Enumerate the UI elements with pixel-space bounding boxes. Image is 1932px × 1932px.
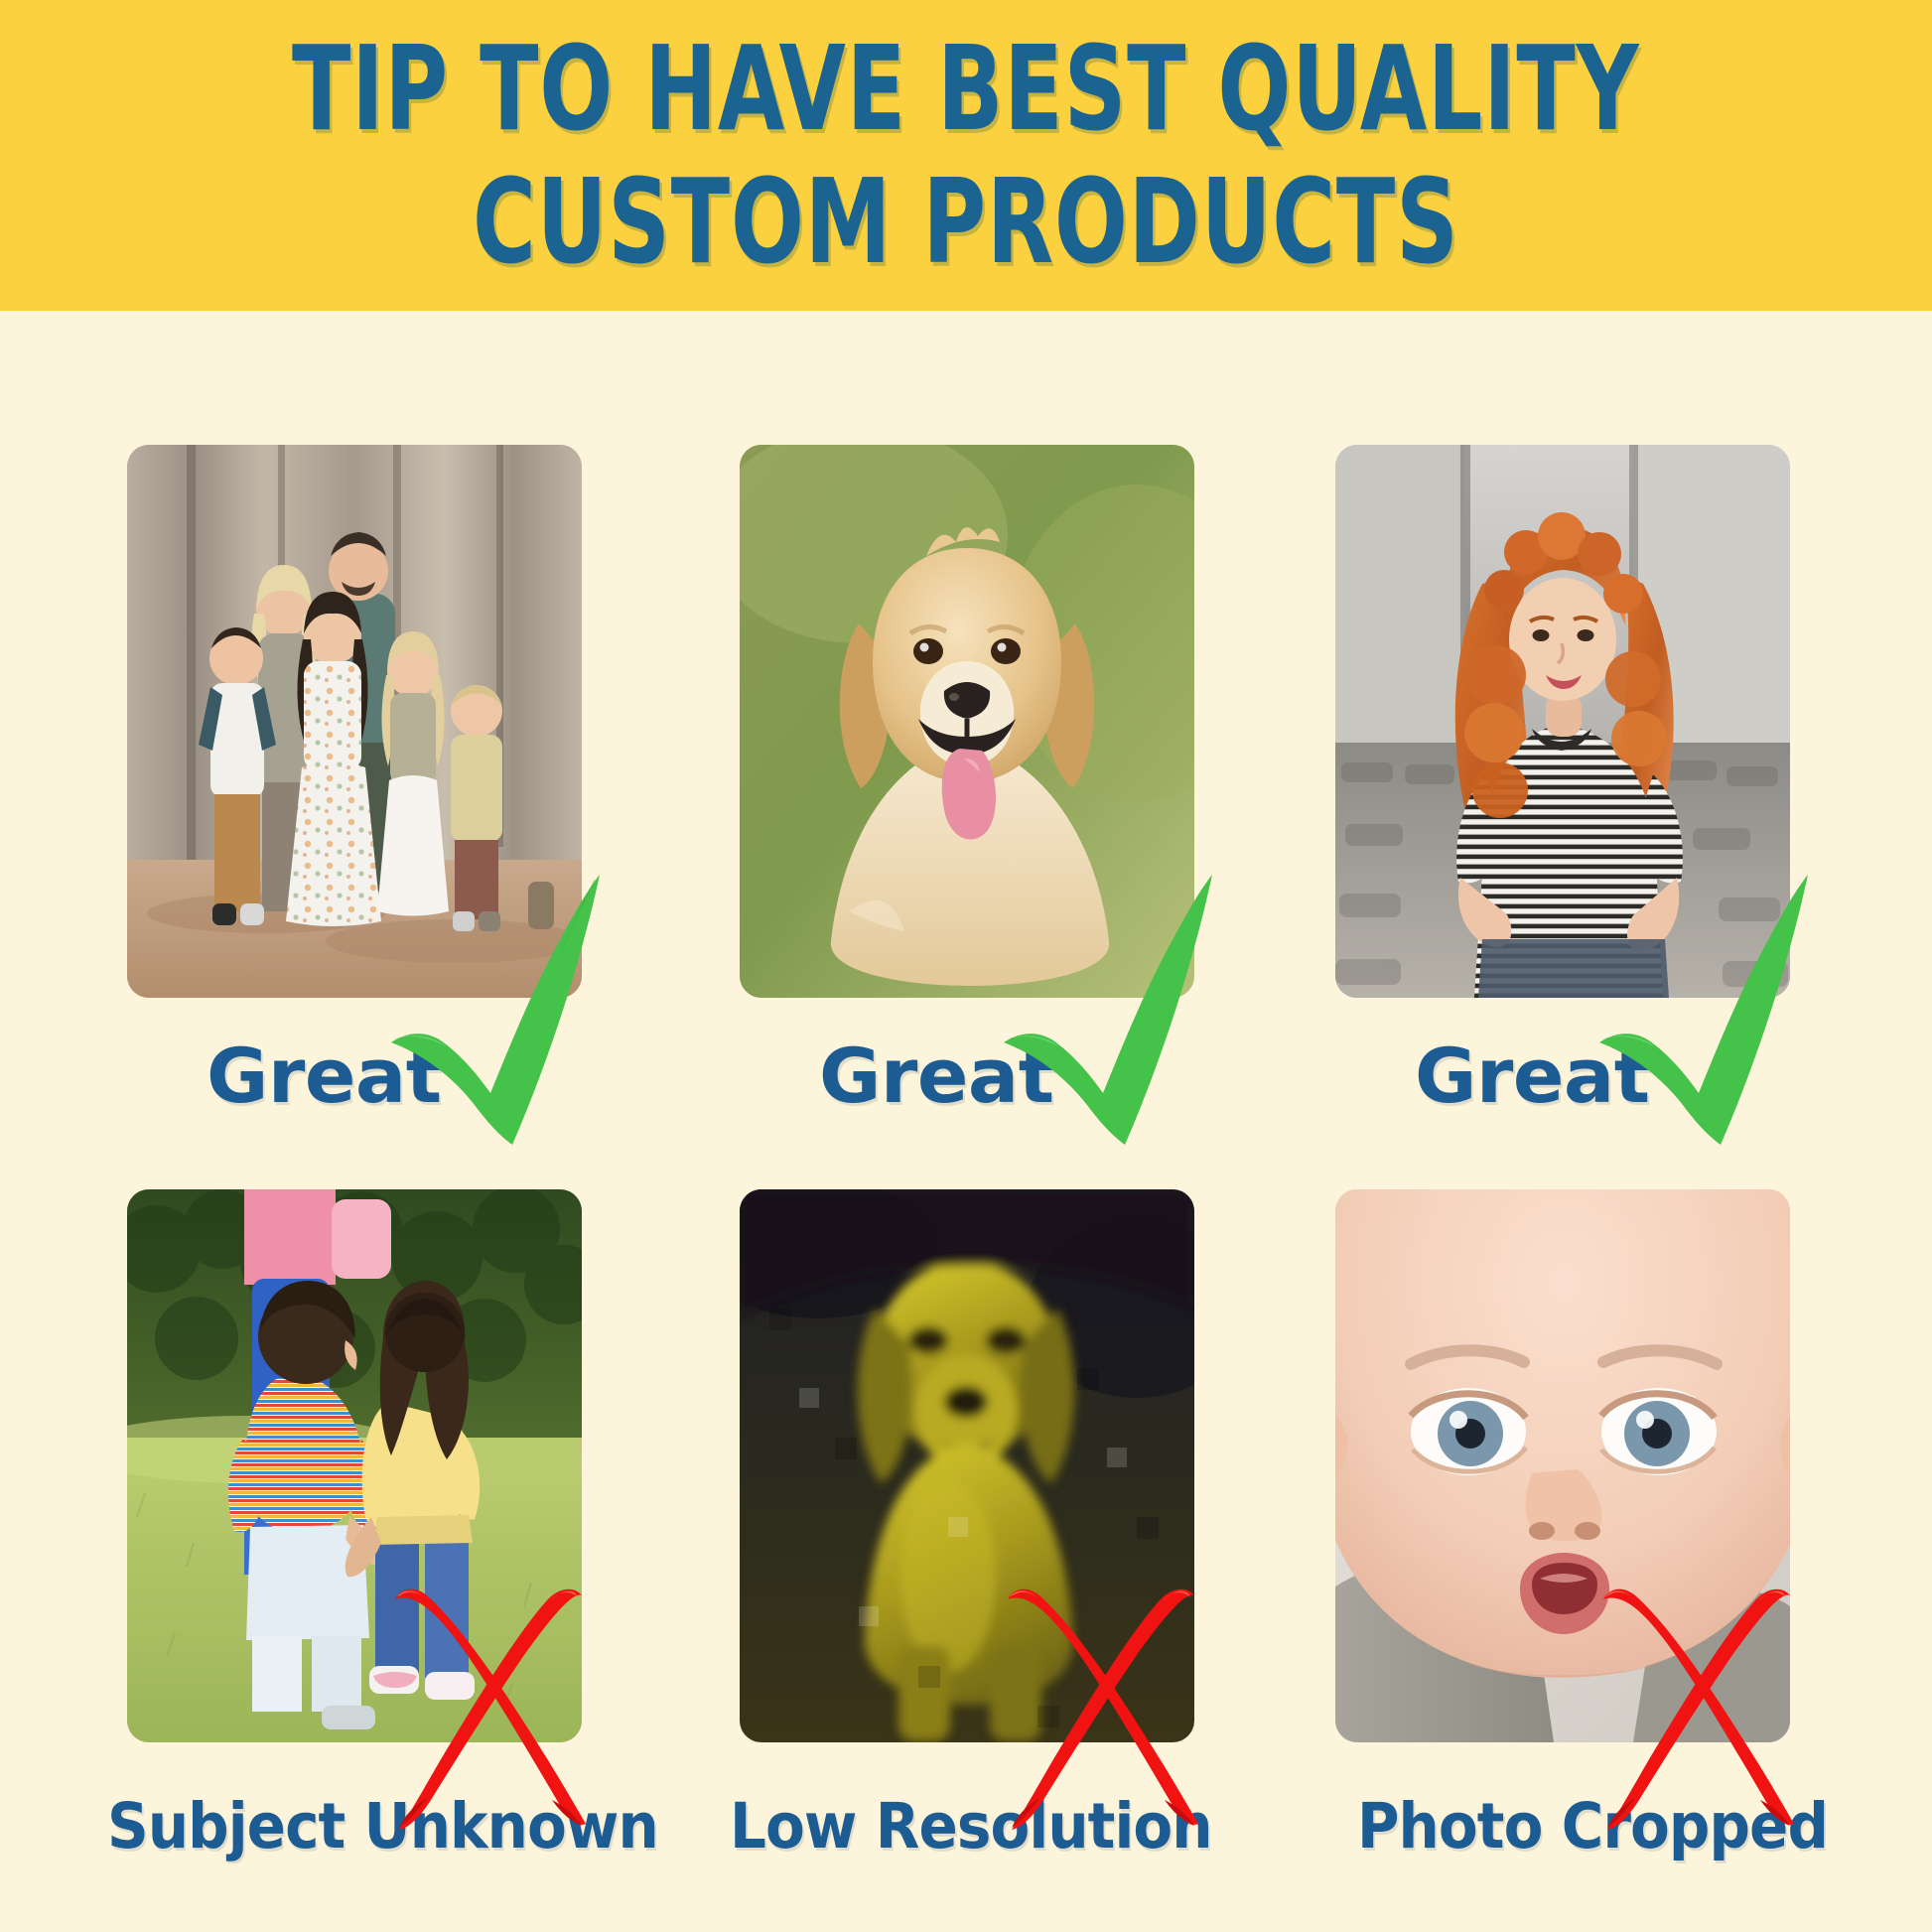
example-cell-dog: Great xyxy=(740,445,1194,1147)
example-cell-lowres-dog: Low Resolution xyxy=(740,1189,1194,1891)
example-cell-woman: Great xyxy=(1335,445,1790,1147)
verdict-label: Subject Unknown xyxy=(107,1790,658,1863)
verdict-label: Photo Cropped xyxy=(1357,1790,1828,1863)
blurry-dog-photo xyxy=(740,1189,1194,1742)
header-banner: TIP TO HAVE BEST QUALITY CUSTOM PRODUCTS xyxy=(0,0,1932,311)
example-cell-cropped-baby: Photo Cropped xyxy=(1335,1189,1790,1891)
label-row: Great xyxy=(127,998,582,1147)
label-row: Great xyxy=(1335,998,1790,1147)
label-row: Photo Cropped xyxy=(1335,1742,1790,1891)
redhead-woman-photo xyxy=(1335,445,1790,998)
label-row: Low Resolution xyxy=(740,1742,1194,1891)
label-row: Great xyxy=(740,998,1194,1147)
examples-grid: Great xyxy=(0,311,1932,1932)
cropped-baby-photo xyxy=(1335,1189,1790,1742)
example-cell-family: Great xyxy=(127,445,582,1147)
family-group-photo xyxy=(127,445,582,998)
verdict-label: Great xyxy=(819,1032,1054,1120)
verdict-label: Low Resolution xyxy=(730,1790,1212,1863)
golden-retriever-photo xyxy=(740,445,1194,998)
page-title-line-1: TIP TO HAVE BEST QUALITY xyxy=(292,23,1639,155)
verdict-label: Great xyxy=(207,1032,442,1120)
children-backs-photo xyxy=(127,1189,582,1742)
label-row: Subject Unknown xyxy=(127,1742,582,1891)
page-title-line-2: CUSTOM PRODUCTS xyxy=(473,156,1459,288)
example-cell-children: Subject Unknown xyxy=(127,1189,582,1891)
verdict-label: Great xyxy=(1415,1032,1650,1120)
